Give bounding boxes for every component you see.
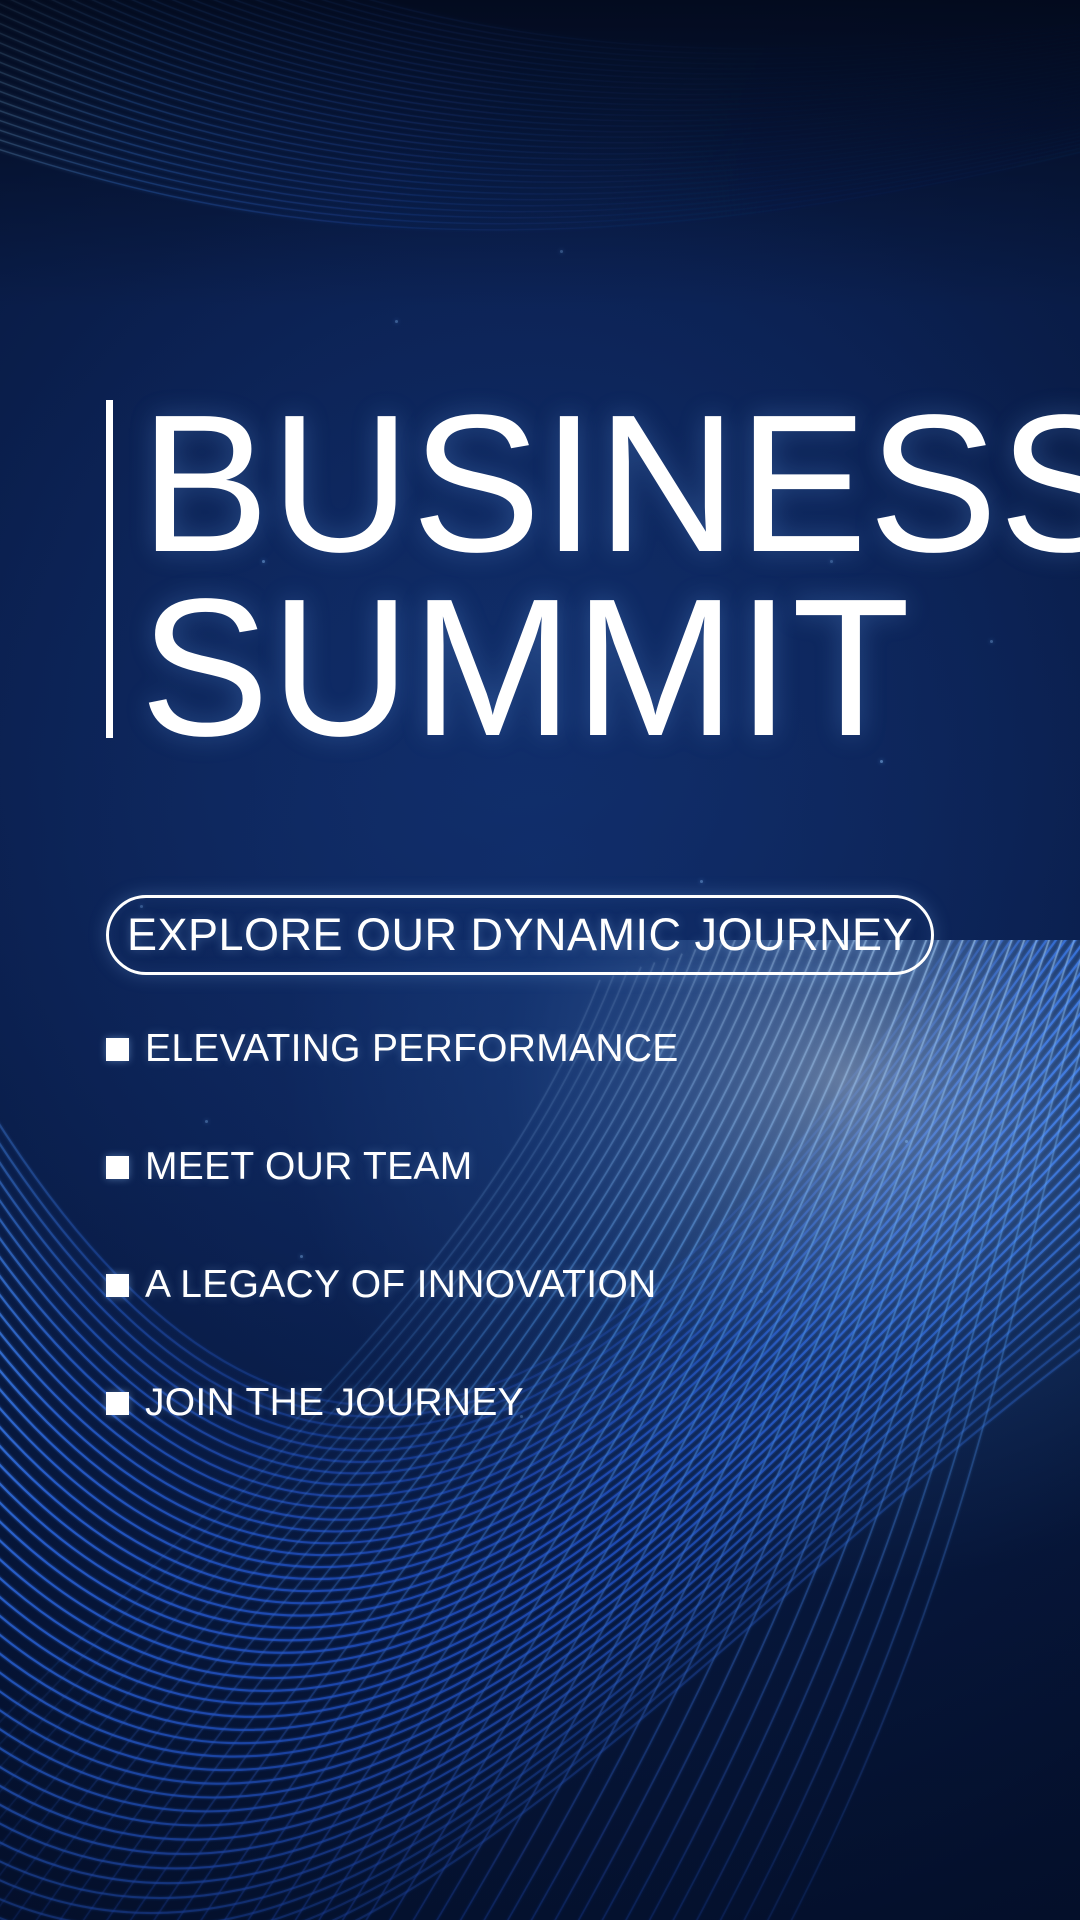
explore-journey-button-label: EXPLORE OUR DYNAMIC JOURNEY bbox=[127, 909, 913, 961]
feature-list: ELEVATING PERFORMANCE MEET OUR TEAM A LE… bbox=[106, 1010, 866, 1482]
list-item-label: MEET OUR TEAM bbox=[145, 1145, 473, 1189]
list-item[interactable]: MEET OUR TEAM bbox=[106, 1128, 866, 1206]
list-item-label: ELEVATING PERFORMANCE bbox=[145, 1027, 679, 1071]
title-accent-bar bbox=[106, 400, 113, 738]
title-lines: BUSINESS SUMMIT bbox=[140, 392, 1080, 760]
list-item-label: JOIN THE JOURNEY bbox=[145, 1381, 524, 1425]
poster-content: BUSINESS SUMMIT EXPLORE OUR DYNAMIC JOUR… bbox=[0, 0, 1080, 1920]
title-line-2: SUMMIT bbox=[140, 576, 1080, 760]
square-bullet-icon bbox=[106, 1392, 129, 1415]
poster-canvas: BUSINESS SUMMIT EXPLORE OUR DYNAMIC JOUR… bbox=[0, 0, 1080, 1920]
list-item[interactable]: A LEGACY OF INNOVATION bbox=[106, 1246, 866, 1324]
list-item[interactable]: JOIN THE JOURNEY bbox=[106, 1364, 866, 1442]
square-bullet-icon bbox=[106, 1156, 129, 1179]
square-bullet-icon bbox=[106, 1038, 129, 1061]
page-title: BUSINESS SUMMIT bbox=[106, 392, 1080, 760]
explore-journey-button[interactable]: EXPLORE OUR DYNAMIC JOURNEY bbox=[106, 895, 934, 975]
square-bullet-icon bbox=[106, 1274, 129, 1297]
list-item[interactable]: ELEVATING PERFORMANCE bbox=[106, 1010, 866, 1088]
list-item-label: A LEGACY OF INNOVATION bbox=[145, 1263, 657, 1307]
title-line-1: BUSINESS bbox=[140, 392, 1080, 576]
